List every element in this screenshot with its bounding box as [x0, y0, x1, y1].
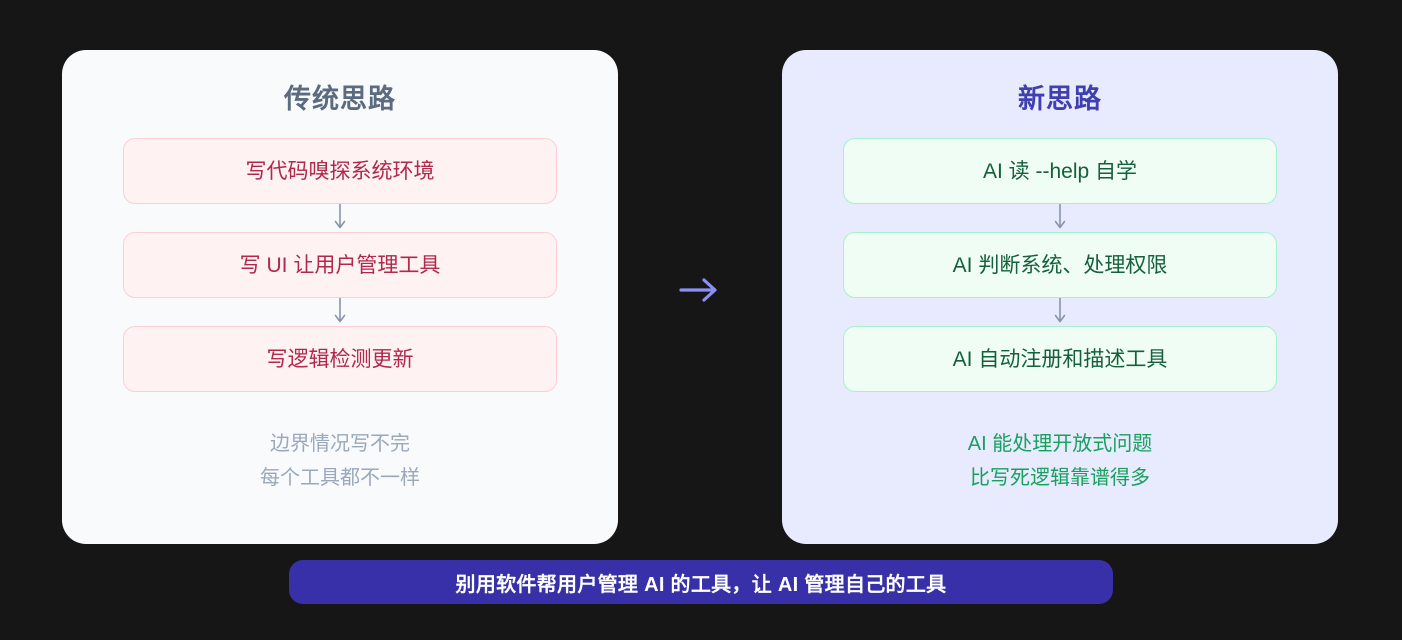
right-connector-1: [843, 204, 1277, 232]
left-connector-2: [123, 298, 557, 326]
right-card-title: 新思路: [843, 83, 1277, 115]
left-notes: 边界情况写不完 每个工具都不一样: [123, 433, 557, 490]
diagram-canvas: 传统思路 写代码嗅探系统环境 写 UI 让用户管理工具 写逻辑检测更新 边界情况…: [0, 0, 1402, 640]
left-card-title: 传统思路: [123, 83, 557, 115]
right-flow: AI 读 --help 自学 AI 判断系统、处理权限 AI 自动注册和描述工具: [843, 138, 1277, 392]
right-connector-2: [843, 298, 1277, 326]
transition-arrow: [672, 268, 728, 312]
left-step-1: 写代码嗅探系统环境: [123, 138, 557, 204]
left-note-1: 边界情况写不完: [270, 433, 410, 456]
arrow-down-icon: [1053, 298, 1067, 326]
right-step-3: AI 自动注册和描述工具: [843, 326, 1277, 392]
left-connector-1: [123, 204, 557, 232]
new-approach-card: 新思路 AI 读 --help 自学 AI 判断系统、处理权限 AI 自动注册和…: [782, 50, 1338, 544]
left-step-3: 写逻辑检测更新: [123, 326, 557, 392]
arrow-down-icon: [333, 204, 347, 232]
key-message-banner: 别用软件帮用户管理 AI 的工具，让 AI 管理自己的工具: [289, 560, 1113, 604]
left-note-2: 每个工具都不一样: [260, 467, 420, 490]
right-step-1: AI 读 --help 自学: [843, 138, 1277, 204]
right-step-2: AI 判断系统、处理权限: [843, 232, 1277, 298]
arrow-right-icon: [678, 276, 722, 304]
right-note-1: AI 能处理开放式问题: [968, 433, 1152, 456]
right-note-2: 比写死逻辑靠谱得多: [970, 467, 1150, 490]
arrow-down-icon: [1053, 204, 1067, 232]
left-step-2: 写 UI 让用户管理工具: [123, 232, 557, 298]
left-flow: 写代码嗅探系统环境 写 UI 让用户管理工具 写逻辑检测更新: [123, 138, 557, 392]
arrow-down-icon: [333, 298, 347, 326]
right-notes: AI 能处理开放式问题 比写死逻辑靠谱得多: [843, 433, 1277, 490]
traditional-approach-card: 传统思路 写代码嗅探系统环境 写 UI 让用户管理工具 写逻辑检测更新 边界情况…: [62, 50, 618, 544]
